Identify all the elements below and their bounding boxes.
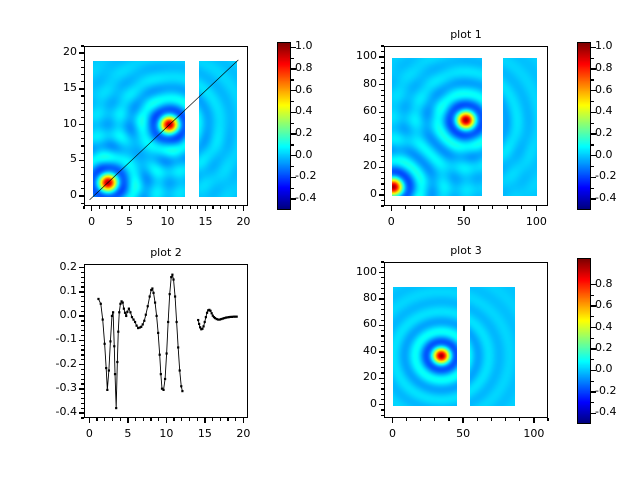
subplot-bottom-right-xtick-minor <box>448 418 449 421</box>
subplot-bottom-right-xtick-minor <box>547 418 548 421</box>
subplot-bottom-right-cbar-ticklabel: -0.2 <box>595 384 639 397</box>
subplot-bottom-right-ytick-minor <box>381 261 384 262</box>
subplot-bottom-right-xticklabel: 50 <box>438 427 488 440</box>
subplot-bottom-right-xtick-minor <box>491 418 492 421</box>
subplot-bottom-right-ytick-major <box>379 272 384 273</box>
subplot-bottom-right-xtick-major <box>533 418 534 423</box>
subplot-bottom-right-cbar-ticklabel: 0.8 <box>595 277 639 290</box>
subplot-bottom-right-ytick-major <box>379 351 384 352</box>
subplot-bottom-right-yticklabel: 20 <box>333 370 377 383</box>
subplot-bottom-right-xtick-minor <box>505 418 506 421</box>
subplot-bottom-right-xtick-minor <box>406 418 407 421</box>
subplot-bottom-right-cbar-ticklabel: 0.2 <box>595 341 639 354</box>
subplot-bottom-right-ytick-major <box>379 325 384 326</box>
subplot-bottom-right-axes <box>384 262 548 418</box>
subplot-bottom-right-cbar-ticklabel: 0.4 <box>595 320 639 333</box>
subplot-bottom-right-ytick-major <box>379 404 384 405</box>
subplot-bottom-right-colorbar <box>577 258 591 424</box>
figure-canvas: 05101520051015201.00.80.60.40.20.0-0.2-0… <box>0 0 640 480</box>
subplot-bottom-right-ytick-minor <box>381 314 384 315</box>
subplot-bottom-right-image-block-right-pixels <box>470 287 515 406</box>
subplot-bottom-right: plot 30204060801000501000.80.60.40.20.0-… <box>0 0 640 480</box>
subplot-bottom-right-cbar-tick-minor <box>591 295 594 296</box>
subplot-bottom-right-yticklabel: 40 <box>333 344 377 357</box>
subplot-bottom-right-xtick-major <box>462 418 463 423</box>
subplot-bottom-right-cbar-tick-minor <box>591 402 594 403</box>
subplot-bottom-right-ytick-minor <box>381 293 384 294</box>
subplot-bottom-right-image-block-left <box>393 287 457 406</box>
subplot-bottom-right-cbar-tick-minor <box>591 381 594 382</box>
subplot-bottom-right-xtick-minor <box>434 418 435 421</box>
subplot-bottom-right-ytick-minor <box>381 341 384 342</box>
subplot-bottom-right-ytick-major <box>379 378 384 379</box>
subplot-bottom-right-ytick-minor <box>381 415 384 416</box>
subplot-bottom-right-yticklabel: 0 <box>333 397 377 410</box>
subplot-bottom-right-ytick-minor <box>381 335 384 336</box>
subplot-bottom-right-xtick-minor <box>477 418 478 421</box>
subplot-bottom-right-ytick-minor <box>381 330 384 331</box>
subplot-bottom-right-ytick-minor <box>381 346 384 347</box>
subplot-bottom-right-ytick-minor <box>381 288 384 289</box>
subplot-bottom-right-ytick-minor <box>381 362 384 363</box>
subplot-bottom-right-ytick-minor <box>381 388 384 389</box>
subplot-bottom-right-ytick-minor <box>381 267 384 268</box>
subplot-bottom-right-cbar-tick-minor <box>591 338 594 339</box>
subplot-bottom-right-cbar-ticklabel: 0.6 <box>595 298 639 311</box>
subplot-bottom-right-xticklabel: 0 <box>367 427 417 440</box>
subplot-bottom-right-ytick-minor <box>381 367 384 368</box>
subplot-bottom-right-ytick-minor <box>381 372 384 373</box>
subplot-bottom-right-ytick-major <box>379 298 384 299</box>
subplot-bottom-right-title: plot 3 <box>384 244 548 257</box>
subplot-bottom-right-ytick-minor <box>381 383 384 384</box>
subplot-bottom-right-cbar-tick-minor <box>591 359 594 360</box>
subplot-bottom-right-ytick-minor <box>381 277 384 278</box>
subplot-bottom-right-ytick-minor <box>381 394 384 395</box>
subplot-bottom-right-yticklabel: 100 <box>333 265 377 278</box>
subplot-bottom-right-xtick-major <box>392 418 393 423</box>
subplot-bottom-right-xtick-minor <box>420 418 421 421</box>
subplot-bottom-right-cbar-ticklabel: 0.0 <box>595 362 639 375</box>
subplot-bottom-right-colorbar-gradient <box>578 259 590 423</box>
subplot-bottom-right-ytick-minor <box>381 357 384 358</box>
subplot-bottom-right-image-block-right <box>470 287 515 406</box>
subplot-bottom-right-xtick-minor <box>519 418 520 421</box>
subplot-bottom-right-yticklabel: 80 <box>333 291 377 304</box>
subplot-bottom-right-ytick-minor <box>381 304 384 305</box>
subplot-bottom-right-image-block-left-pixels <box>393 287 457 406</box>
subplot-bottom-right-cbar-ticklabel: -0.4 <box>595 405 639 418</box>
subplot-bottom-right-xticklabel: 100 <box>509 427 559 440</box>
subplot-bottom-right-ytick-minor <box>381 399 384 400</box>
subplot-bottom-right-ytick-minor <box>381 320 384 321</box>
subplot-bottom-right-ytick-minor <box>381 283 384 284</box>
subplot-bottom-right-ytick-minor <box>381 409 384 410</box>
subplot-bottom-right-yticklabel: 60 <box>333 317 377 330</box>
subplot-bottom-right-ytick-minor <box>381 309 384 310</box>
subplot-bottom-right-cbar-tick-minor <box>591 316 594 317</box>
